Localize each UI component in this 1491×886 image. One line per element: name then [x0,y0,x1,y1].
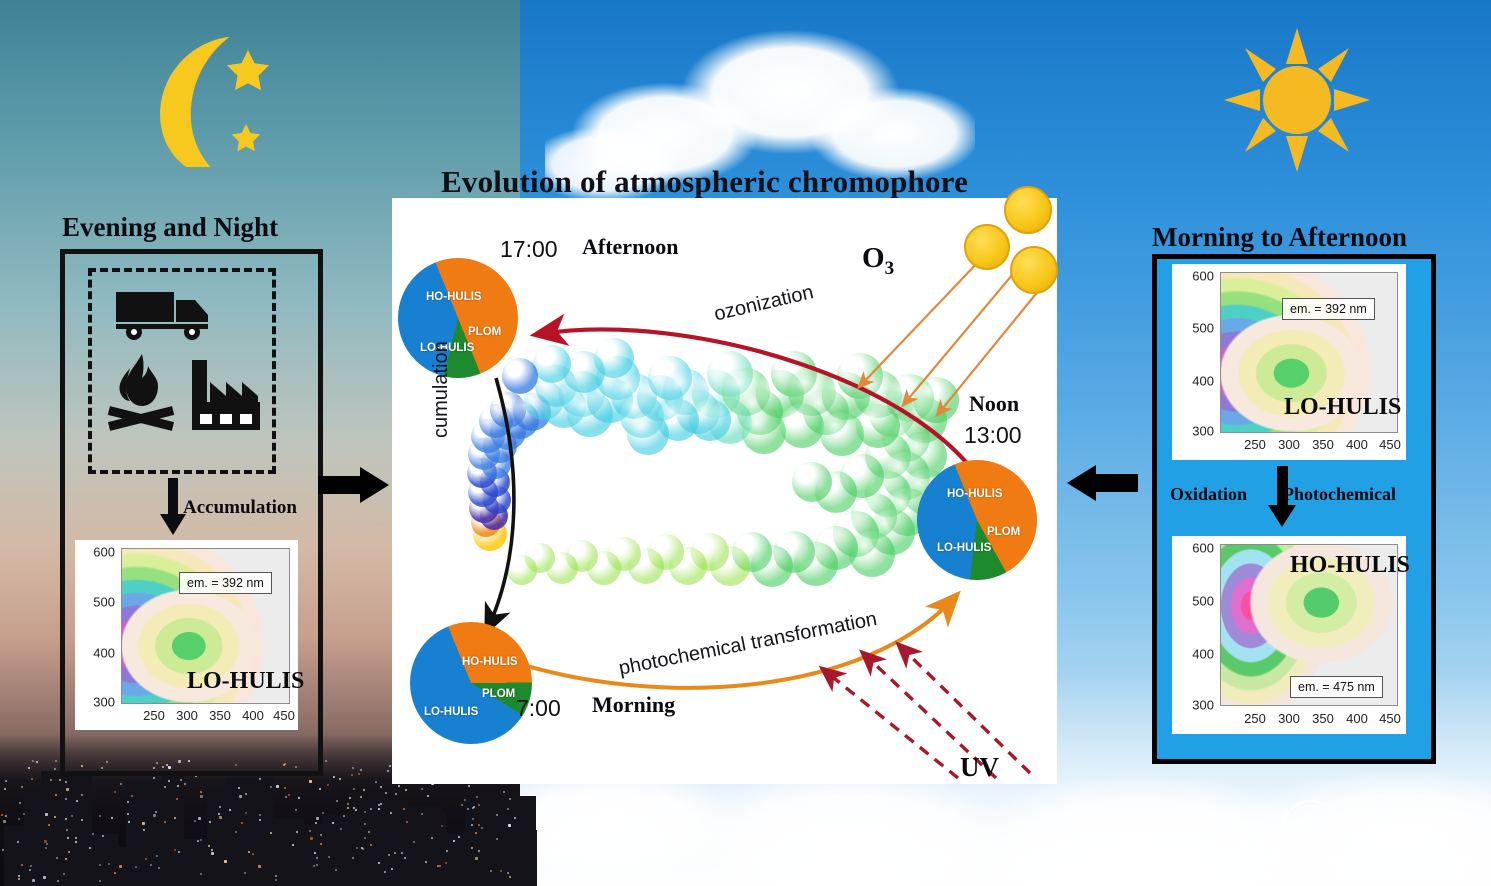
city-light [496,814,498,816]
x-tick: 350 [1312,711,1334,726]
city-light [65,858,67,860]
city-light [364,811,366,813]
city-light [48,824,50,826]
city-light [44,840,47,843]
city-light [464,799,466,801]
city-light [54,816,56,818]
city-light [63,873,65,875]
pie-slice-label-ho: HO-HULIS [426,291,482,303]
pie-chart-noon: HO-HULIS PLOM LO-HULIS [917,460,1037,580]
city-light [31,778,33,780]
city-light [509,798,511,800]
x-tick: 250 [1244,711,1266,726]
campfire-icon [104,352,180,441]
city-light [406,821,408,823]
city-light [18,875,20,877]
city-light [57,880,59,882]
city-light [245,812,247,814]
city-light [340,828,342,830]
em-wavelength-label: em. = 475 nm [1290,676,1383,698]
city-light [404,857,406,859]
uv-label: UV [960,752,999,783]
city-light [174,849,176,851]
city-light [309,780,312,783]
building [505,796,536,886]
building [241,822,257,886]
panel-heading-right: Morning to Afternoon [1152,222,1407,253]
y-tick: 600 [1172,541,1214,556]
city-light [355,809,357,811]
city-light [320,843,322,845]
city-light [3,820,6,823]
oxidation-label: Oxidation [1170,484,1247,505]
city-light [439,865,441,867]
city-light [198,817,201,820]
city-light [65,818,67,820]
city-light [200,791,202,793]
y-tick: 300 [75,695,115,710]
city-light [5,815,7,817]
city-light [99,815,101,817]
city-light [478,824,480,826]
city-light [298,797,300,799]
city-light [158,867,160,869]
city-light [2,849,4,851]
moon-icon [122,32,277,167]
city-light [398,785,400,787]
city-light [314,852,316,854]
city-light [211,852,214,855]
city-light [347,807,349,809]
time-label-noon: 13:00 [964,422,1022,449]
city-light [475,832,477,834]
connector-arrow-right-icon [318,464,390,511]
city-light [352,857,354,859]
pie-slice-label-ho: HO-HULIS [462,656,518,668]
city-light [238,787,240,789]
species-label: LO-HULIS [1284,394,1401,421]
city-light [431,837,433,839]
ozone-molecule-icon [964,224,1010,270]
x-tick: 450 [273,708,295,723]
city-light [503,791,505,793]
sust-logo-icon [1282,799,1338,855]
city-light [285,796,287,798]
city-light [5,780,7,782]
city-light [177,785,179,787]
city-light [391,868,393,870]
city-light [252,853,254,855]
city-light [388,854,390,856]
y-tick: 400 [75,646,115,661]
city-light [380,803,382,805]
city-light [102,835,104,837]
city-light [55,760,57,762]
city-light [458,836,460,838]
city-light [119,865,122,868]
city-light [200,795,203,798]
city-light [368,831,370,833]
city-light [150,864,152,866]
city-light [153,814,156,817]
city-light [219,806,221,808]
city-light [362,848,364,850]
city-light [99,880,101,882]
city-light [75,841,77,843]
city-light [54,768,56,770]
sun-icon [1222,28,1372,173]
city-light [288,794,290,796]
city-light [496,838,498,840]
city-light [335,869,337,871]
city-light [200,839,202,841]
watermark: 新闻网 SUST NEWS NET [1282,795,1482,877]
city-light [332,822,334,824]
city-light [461,804,463,806]
city-light [128,821,130,823]
city-light [176,798,178,800]
ozone-molecule-icon [1010,246,1058,294]
city-light [218,813,220,815]
city-light [66,788,69,791]
city-light [370,808,372,810]
city-light [241,822,243,824]
pie-slice-label-plom: PLOM [987,526,1020,538]
pie-slice-label-lo: LO-HULIS [424,706,478,718]
city-light [168,780,170,782]
pie-chart-morning: HO-HULIS PLOM LO-HULIS [410,622,532,744]
x-tick: 300 [1278,437,1300,452]
city-light [425,861,427,863]
city-light [164,786,166,788]
city-light [310,837,313,840]
city-light [50,779,52,781]
city-light [174,817,176,819]
pie-slice-label-plom: PLOM [468,326,501,338]
city-light [356,847,358,849]
city-light [468,785,470,787]
city-light [127,801,129,803]
city-light [347,803,349,805]
city-light [145,858,147,860]
x-tick: 250 [1244,437,1266,452]
city-light [349,797,351,799]
city-light [467,808,469,810]
city-light [43,876,46,879]
city-light [309,830,311,832]
city-light [351,774,353,776]
city-light [245,793,247,795]
city-light [364,837,366,839]
y-tick: 500 [75,595,115,610]
city-light [364,823,366,825]
city-light [270,832,272,834]
city-light [390,812,392,814]
city-light [507,808,509,810]
city-light [36,761,38,763]
city-light [178,851,180,853]
city-light [81,794,83,796]
city-light [343,815,345,817]
city-light [339,778,341,780]
city-light [180,779,182,781]
time-label-morning: 7:00 [516,695,561,722]
city-light [378,808,380,810]
city-light [360,769,362,771]
city-light [21,864,23,866]
city-light [295,809,297,811]
city-light [507,872,509,874]
y-tick: 300 [1172,698,1214,713]
pie-slice-label-lo: LO-HULIS [937,542,991,554]
city-light [325,760,327,762]
city-light [403,808,405,810]
city-light [45,847,47,849]
city-light [441,825,443,827]
city-light [500,870,502,872]
y-tick: 400 [1172,647,1214,662]
city-light [229,809,231,811]
city-light [156,855,158,857]
city-light [71,815,73,817]
city-light [453,840,455,842]
city-light [32,760,34,762]
city-light [153,777,155,779]
period-label-morning: Morning [592,692,675,718]
city-light [30,865,32,867]
city-light [143,829,145,831]
city-light [259,819,261,821]
city-light [4,788,6,790]
city-light [23,813,25,815]
city-light [476,796,478,798]
city-light [316,817,319,820]
city-light [244,872,246,874]
city-light [219,816,222,819]
city-light [120,783,122,785]
city-light [17,841,19,843]
city-light [259,814,261,816]
city-light [209,821,211,823]
building [105,846,120,886]
city-light [384,871,386,873]
city-light [114,791,116,793]
city-light [135,866,137,868]
panel-heading-left: Evening and Night [62,212,278,243]
city-light [405,789,407,791]
city-light [194,820,196,822]
city-light [378,862,380,864]
city-light [445,862,447,864]
city-light [81,819,83,821]
city-light [319,788,321,790]
period-label-afternoon: Afternoon [582,234,679,260]
city-light [197,840,199,842]
cycle-diagram-canvas: HO-HULIS PLOM LO-HULIS HO-HULIS PLOM LO-… [392,198,1057,784]
city-light [46,843,48,845]
city-light [28,767,30,769]
city-light [258,865,261,868]
city-light [352,767,354,769]
city-light [320,834,322,836]
city-light [275,875,277,877]
ozone-label: O3 [862,242,894,280]
city-light [259,778,261,780]
city-light [353,788,355,790]
factory-icon [188,354,264,439]
city-light [394,852,396,854]
city-light [316,857,318,859]
city-light [395,793,397,795]
x-tick: 300 [1278,711,1300,726]
city-light [509,876,511,878]
ozone-molecule-icon [1004,186,1052,234]
graphical-abstract: Evening and Night [0,0,1491,886]
city-light [66,829,68,831]
species-label: LO-HULIS [187,668,304,695]
city-light [380,786,382,788]
city-light [19,802,21,804]
ozone-label-sub: 3 [885,258,895,279]
city-light [387,770,389,772]
city-light [127,813,129,815]
x-tick: 350 [1312,437,1334,452]
city-light [59,779,61,781]
city-light [413,841,415,843]
ozone-label-text: O [862,242,885,274]
eem-plot-right-bottom: 600 500 400 300 250 300 350 400 450 HO-H… [1172,536,1406,734]
city-light [235,831,237,833]
city-light [490,870,492,872]
em-wavelength-label: em. = 392 nm [179,572,272,594]
city-light [155,811,157,813]
connector-arrow-left-icon [1066,462,1138,509]
cumulation-label: cumulation [430,341,453,438]
city-light [65,781,67,783]
city-light [471,847,473,849]
x-tick: 350 [209,708,231,723]
period-label-noon: Noon [969,391,1019,417]
city-light [333,776,335,778]
city-light [389,765,391,767]
city-light [68,851,70,853]
city-light [114,872,116,874]
y-tick: 600 [1172,269,1214,284]
city-light [55,794,57,796]
truck-icon [114,288,222,345]
watermark-en-text: SUST NEWS NET [1342,847,1482,881]
city-light [360,796,362,798]
x-tick: 250 [143,708,165,723]
city-light [248,851,250,853]
city-light [45,813,48,816]
building [144,798,161,886]
city-light [164,821,166,823]
city-light [29,869,31,871]
city-light [131,795,133,797]
x-tick: 450 [1379,437,1401,452]
city-light [508,824,511,827]
city-light [322,812,324,814]
page-title: Evolution of atmospheric chromophore [441,164,968,200]
city-light [421,788,423,790]
y-tick: 500 [1172,594,1214,609]
city-light [76,800,78,802]
photochemical-label: Photochemical [1283,484,1396,505]
city-light [514,817,516,819]
city-light [75,837,77,839]
city-light [142,822,145,825]
y-tick: 400 [1172,374,1214,389]
x-tick: 400 [1346,437,1368,452]
x-tick: 400 [1346,711,1368,726]
city-light [385,792,387,794]
city-light [276,785,279,788]
city-light [200,873,202,875]
city-light [421,813,423,815]
y-tick: 300 [1172,424,1214,439]
species-label: HO-HULIS [1290,552,1410,579]
pie-slice-label-ho: HO-HULIS [947,488,1003,500]
city-light [18,818,20,820]
x-tick: 300 [176,708,198,723]
city-light [1,814,3,816]
city-light [99,864,101,866]
accumulation-label: Accumulation [183,497,297,519]
em-wavelength-label: em. = 392 nm [1282,298,1375,320]
city-light [275,879,277,881]
city-light [92,833,94,835]
city-light [224,860,227,863]
city-light [481,827,483,829]
city-light [358,773,360,775]
city-light [315,822,317,824]
city-light [473,806,475,808]
eem-plot-left: 600 500 400 300 250 300 350 400 450 em. … [75,540,298,730]
city-light [89,847,91,849]
city-light [478,850,480,852]
city-light [21,786,23,788]
city-light [18,878,20,880]
city-light [375,781,377,783]
city-light [239,795,242,798]
city-light [292,844,294,846]
city-light [327,784,329,786]
city-light [475,857,478,860]
city-light [211,849,213,851]
city-light [296,831,298,833]
city-light [313,865,315,867]
pie-slice-label-plom: PLOM [482,688,515,700]
city-light [111,817,113,819]
city-light [32,879,35,882]
city-light [316,864,318,866]
x-tick: 400 [242,708,264,723]
city-light [363,789,365,791]
eem-plot-right-top: 600 500 400 300 250 300 350 400 450 em. … [1172,264,1406,460]
city-light [472,818,474,820]
city-light [401,852,403,854]
city-light [56,857,58,859]
city-light [446,850,448,852]
city-light [208,845,210,847]
y-tick: 600 [75,545,115,560]
city-light [108,863,110,865]
city-light [184,783,186,785]
city-light [270,786,272,788]
city-light [427,795,429,797]
city-light [67,837,69,839]
